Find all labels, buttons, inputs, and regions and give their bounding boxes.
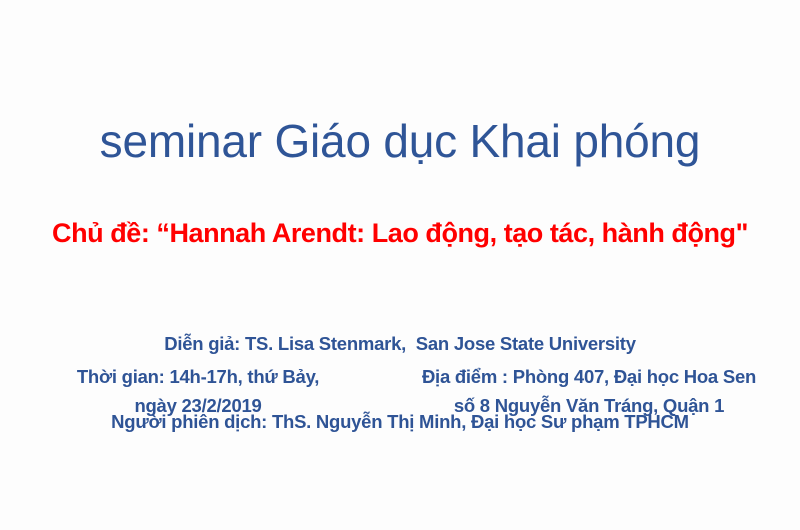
seminar-topic: Chủ đề: “Hannah Arendt: Lao động, tạo tá… bbox=[0, 216, 800, 250]
place-line-1: Địa điểm : Phòng 407, Đại học Hoa Sen bbox=[389, 362, 789, 391]
time-line-1: Thời gian: 14h-17h, thứ Bảy, bbox=[33, 362, 363, 391]
time-column: Thời gian: 14h-17h, thứ Bảy, ngày 23/2/2… bbox=[33, 362, 363, 420]
details-block: Thời gian: 14h-17h, thứ Bảy, ngày 23/2/2… bbox=[0, 362, 800, 420]
slide-title: seminar Giáo dục Khai phóng bbox=[0, 114, 800, 168]
place-line-2: số 8 Nguyễn Văn Tráng, Quận 1 bbox=[389, 391, 789, 420]
time-line-2: ngày 23/2/2019 bbox=[33, 391, 363, 420]
speaker-line: Diễn giả: TS. Lisa Stenmark, San Jose St… bbox=[0, 331, 800, 357]
place-column: Địa điểm : Phòng 407, Đại học Hoa Sen số… bbox=[389, 362, 789, 420]
seminar-announcement-slide: seminar Giáo dục Khai phóng Chủ đề: “Han… bbox=[0, 0, 800, 530]
